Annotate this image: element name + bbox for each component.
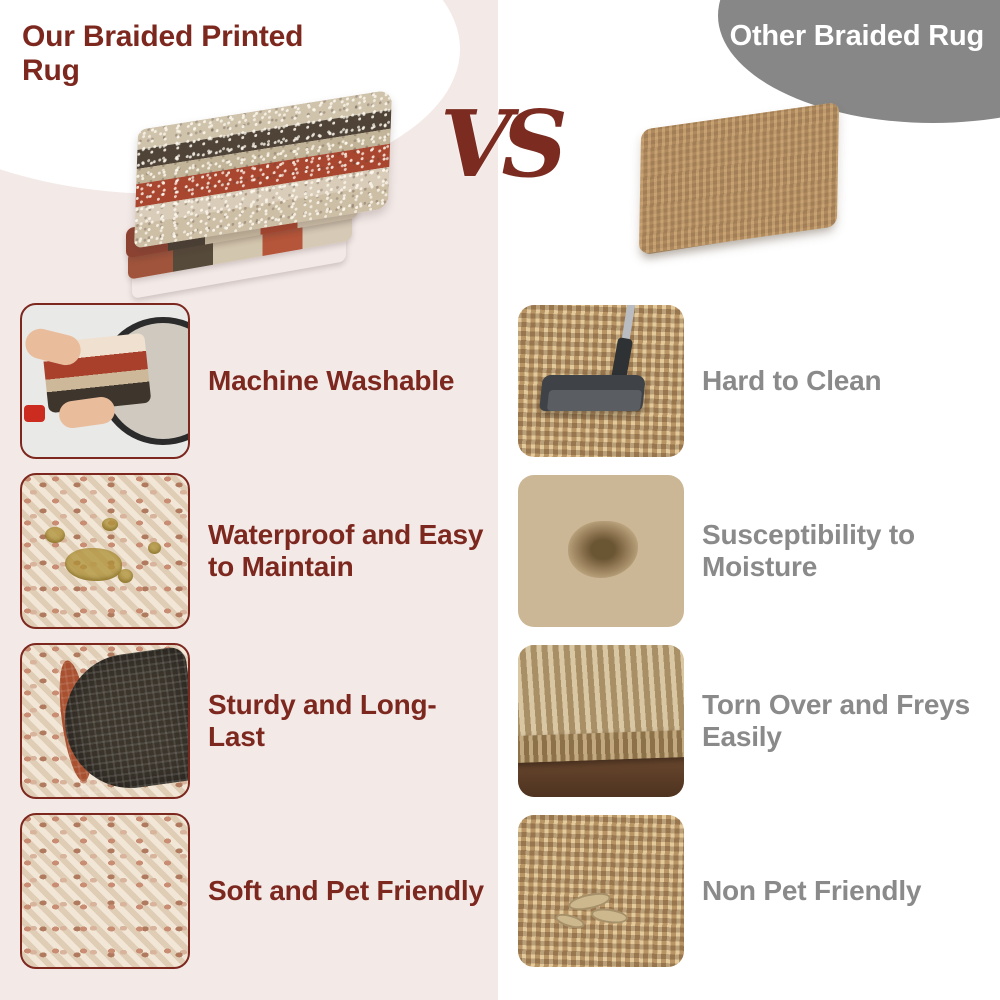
vacuum-cleaner-illustration <box>518 305 684 457</box>
feature-label-hard-to-clean: Hard to Clean <box>702 365 881 397</box>
thumbnail-hard-to-clean <box>518 305 684 457</box>
moisture-stain-illustration <box>518 475 684 627</box>
pulled-loops-illustration <box>518 815 684 967</box>
feature-row-machine-washable: Machine Washable <box>20 305 490 457</box>
jute-rug-surface <box>639 102 839 254</box>
feature-row-moisture: Susceptibility to Moisture <box>518 475 988 627</box>
feature-label-sturdy: Sturdy and Long-Last <box>208 689 490 754</box>
braided-rug-illustration <box>118 104 406 294</box>
thumbnail-fraying <box>518 645 684 797</box>
feature-row-sturdy: Sturdy and Long-Last <box>20 645 490 797</box>
feature-label-machine-washable: Machine Washable <box>208 365 454 397</box>
feature-row-hard-to-clean: Hard to Clean <box>518 305 988 457</box>
frayed-edge-illustration <box>518 645 684 797</box>
feature-row-soft-pet-friendly: Soft and Pet Friendly <box>20 815 490 967</box>
rug-top-surface <box>134 89 392 248</box>
versus-label: VS <box>440 92 570 196</box>
washing-machine-illustration <box>22 305 188 457</box>
thumbnail-waterproof <box>20 473 190 629</box>
thumbnail-non-pet-friendly <box>518 815 684 967</box>
left-column-title: Our Braided Printed Rug <box>22 20 322 87</box>
comparison-infographic: Our Braided Printed Rug Other Braided Ru… <box>0 0 1000 1000</box>
thumbnail-moisture <box>518 475 684 627</box>
feature-row-waterproof: Waterproof and Easy to Maintain <box>20 475 490 627</box>
feature-label-soft-pet-friendly: Soft and Pet Friendly <box>208 875 484 907</box>
rug-backing-illustration <box>22 645 188 797</box>
thumbnail-sturdy <box>20 643 190 799</box>
feature-label-moisture: Susceptibility to Moisture <box>702 519 988 584</box>
feature-row-fraying: Torn Over and Freys Easily <box>518 645 988 797</box>
feature-label-waterproof: Waterproof and Easy to Maintain <box>208 519 490 584</box>
feature-label-non-pet-friendly: Non Pet Friendly <box>702 875 921 907</box>
hero-image-other-rug <box>636 108 844 258</box>
hero-image-our-rug <box>118 104 406 294</box>
thumbnail-soft-pet-friendly <box>20 813 190 969</box>
feature-row-non-pet-friendly: Non Pet Friendly <box>518 815 988 967</box>
right-column-title: Other Braided Rug <box>700 20 984 53</box>
feature-label-fraying: Torn Over and Freys Easily <box>702 689 988 754</box>
soft-texture-illustration <box>22 815 188 967</box>
water-droplets-illustration <box>22 475 188 627</box>
thumbnail-machine-washable <box>20 303 190 459</box>
